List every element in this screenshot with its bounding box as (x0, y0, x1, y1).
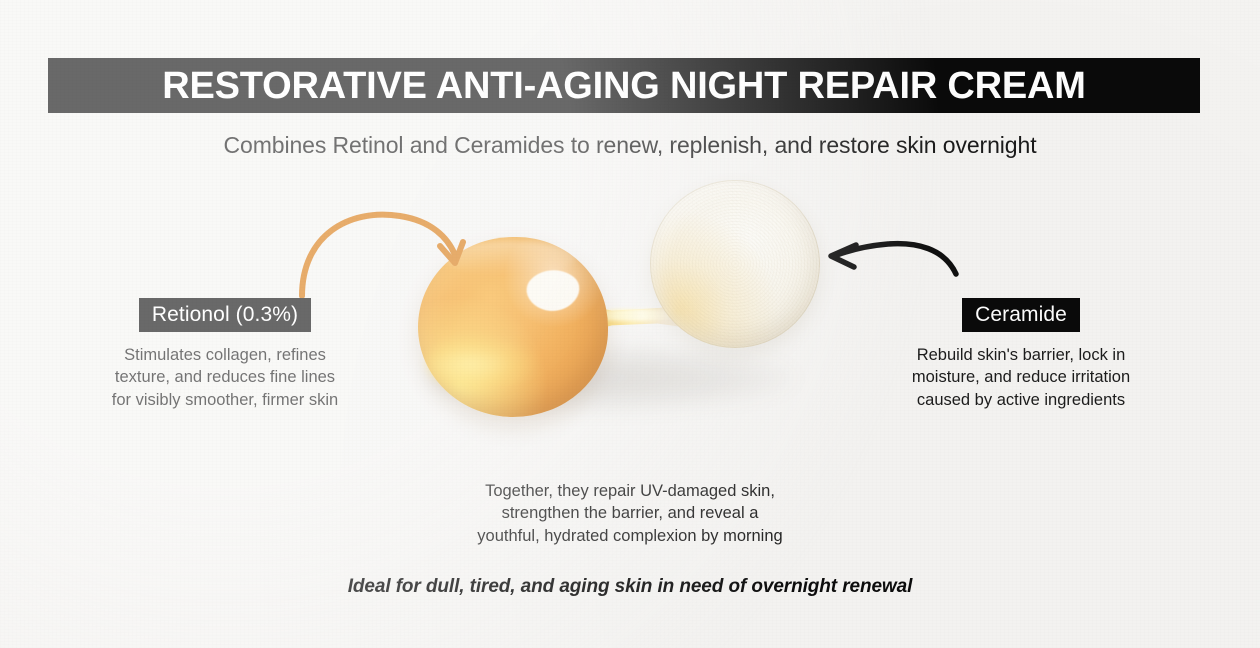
page-subtitle: Combines Retinol and Ceramides to renew,… (0, 132, 1260, 159)
callout-retinol-line-2: texture, and reduces fine lines (92, 366, 358, 388)
closing-statement: Ideal for dull, tired, and aging skin in… (0, 576, 1260, 598)
callout-ceramide-line-1: Rebuild skin's barrier, lock in (888, 344, 1154, 366)
callout-retinol-body: Stimulates collagen, refines texture, an… (92, 344, 358, 411)
callout-retinol-line-3: for visibly smoother, firmer skin (92, 389, 358, 411)
callout-ceramide-badge-row: Ceramide (888, 298, 1154, 332)
callout-ceramide-line-3: caused by active ingredients (888, 389, 1154, 411)
callout-ceramide-body: Rebuild skin's barrier, lock in moisture… (888, 344, 1154, 411)
page-title: RESTORATIVE ANTI-AGING NIGHT REPAIR CREA… (162, 67, 1086, 105)
callout-ceramide: Ceramide Rebuild skin's barrier, lock in… (888, 298, 1154, 411)
together-line-1: Together, they repair UV-damaged skin, (0, 480, 1260, 502)
together-statement: Together, they repair UV-damaged skin, s… (0, 480, 1260, 547)
callout-retinol-line-1: Stimulates collagen, refines (92, 344, 358, 366)
together-line-2: strengthen the barrier, and reveal a (0, 502, 1260, 524)
status-badge-ceramide: Ceramide (962, 298, 1080, 332)
callout-ceramide-line-2: moisture, and reduce irritation (888, 366, 1154, 388)
callout-retinol: Retionol (0.3%) Stimulates collagen, ref… (92, 298, 358, 411)
cream-sphere-edge (650, 180, 820, 348)
curved-arrow-to-retinol (296, 200, 486, 300)
status-badge-retinol: Retionol (0.3%) (139, 298, 311, 332)
title-banner: RESTORATIVE ANTI-AGING NIGHT REPAIR CREA… (48, 58, 1200, 113)
together-line-3: youthful, hydrated complexion by morning (0, 525, 1260, 547)
infographic-stage: RESTORATIVE ANTI-AGING NIGHT REPAIR CREA… (0, 0, 1260, 648)
amber-droplet-glow (426, 335, 536, 393)
callout-retinol-badge-row: Retionol (0.3%) (92, 298, 358, 332)
